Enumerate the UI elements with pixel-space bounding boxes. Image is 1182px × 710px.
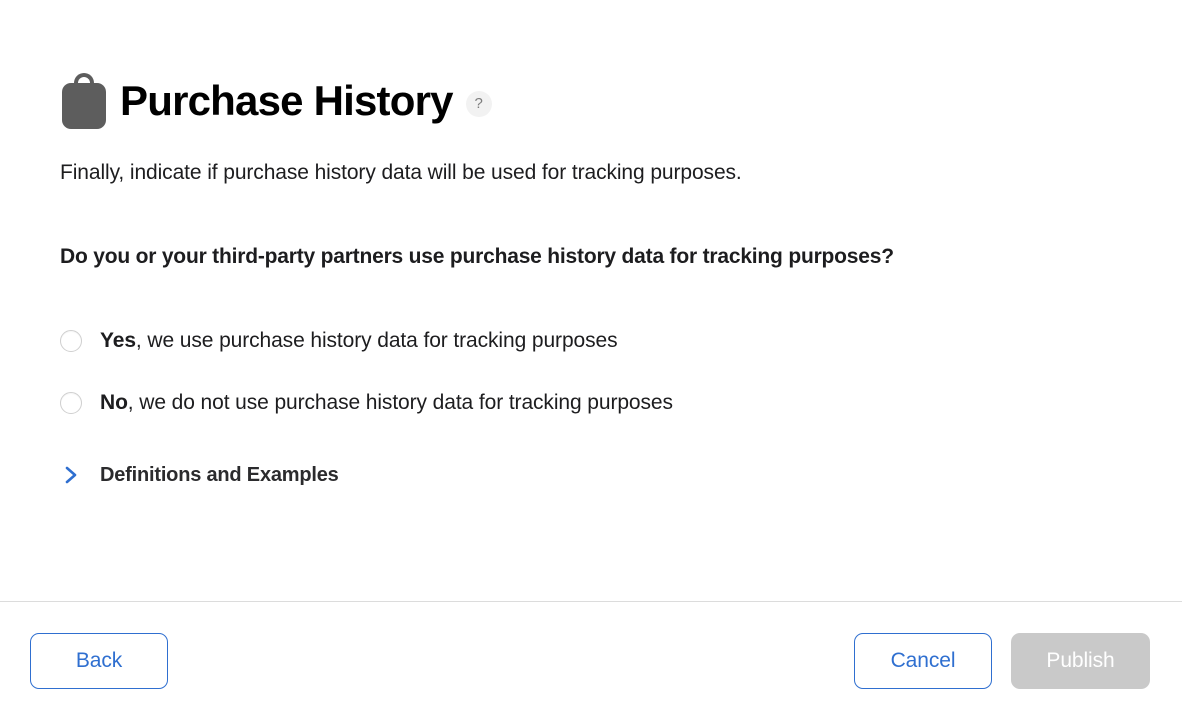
- radio-group: Yes, we use purchase history data for tr…: [60, 323, 1060, 447]
- radio-label-no-rest: , we do not use purchase history data fo…: [128, 391, 673, 414]
- help-icon[interactable]: ?: [466, 91, 492, 117]
- publish-button[interactable]: Publish: [1011, 633, 1150, 689]
- definitions-and-examples-toggle[interactable]: Definitions and Examples: [60, 459, 339, 491]
- radio-option-no[interactable]: No, we do not use purchase history data …: [60, 385, 1060, 421]
- shopping-bag-icon: [60, 73, 106, 129]
- page-title: Purchase History: [120, 80, 453, 122]
- radio-button-no[interactable]: [60, 392, 82, 414]
- page-content: Purchase History ? Finally, indicate if …: [0, 0, 1182, 601]
- page-header: Purchase History ?: [60, 70, 492, 132]
- back-button[interactable]: Back: [30, 633, 168, 689]
- question-text: Do you or your third-party partners use …: [60, 242, 894, 272]
- radio-label-no: No, we do not use purchase history data …: [100, 391, 673, 415]
- radio-button-yes[interactable]: [60, 330, 82, 352]
- chevron-right-icon: [60, 464, 82, 486]
- radio-label-no-lead: No: [100, 391, 128, 414]
- purchase-history-page: Purchase History ? Finally, indicate if …: [0, 0, 1182, 710]
- intro-text: Finally, indicate if purchase history da…: [60, 158, 742, 188]
- radio-option-yes[interactable]: Yes, we use purchase history data for tr…: [60, 323, 1060, 359]
- radio-label-yes-rest: , we use purchase history data for track…: [136, 329, 618, 352]
- definitions-and-examples-label: Definitions and Examples: [100, 464, 339, 487]
- radio-label-yes: Yes, we use purchase history data for tr…: [100, 329, 617, 353]
- radio-label-yes-lead: Yes: [100, 329, 136, 352]
- footer-bar: Back Cancel Publish: [0, 602, 1182, 710]
- cancel-button[interactable]: Cancel: [854, 633, 992, 689]
